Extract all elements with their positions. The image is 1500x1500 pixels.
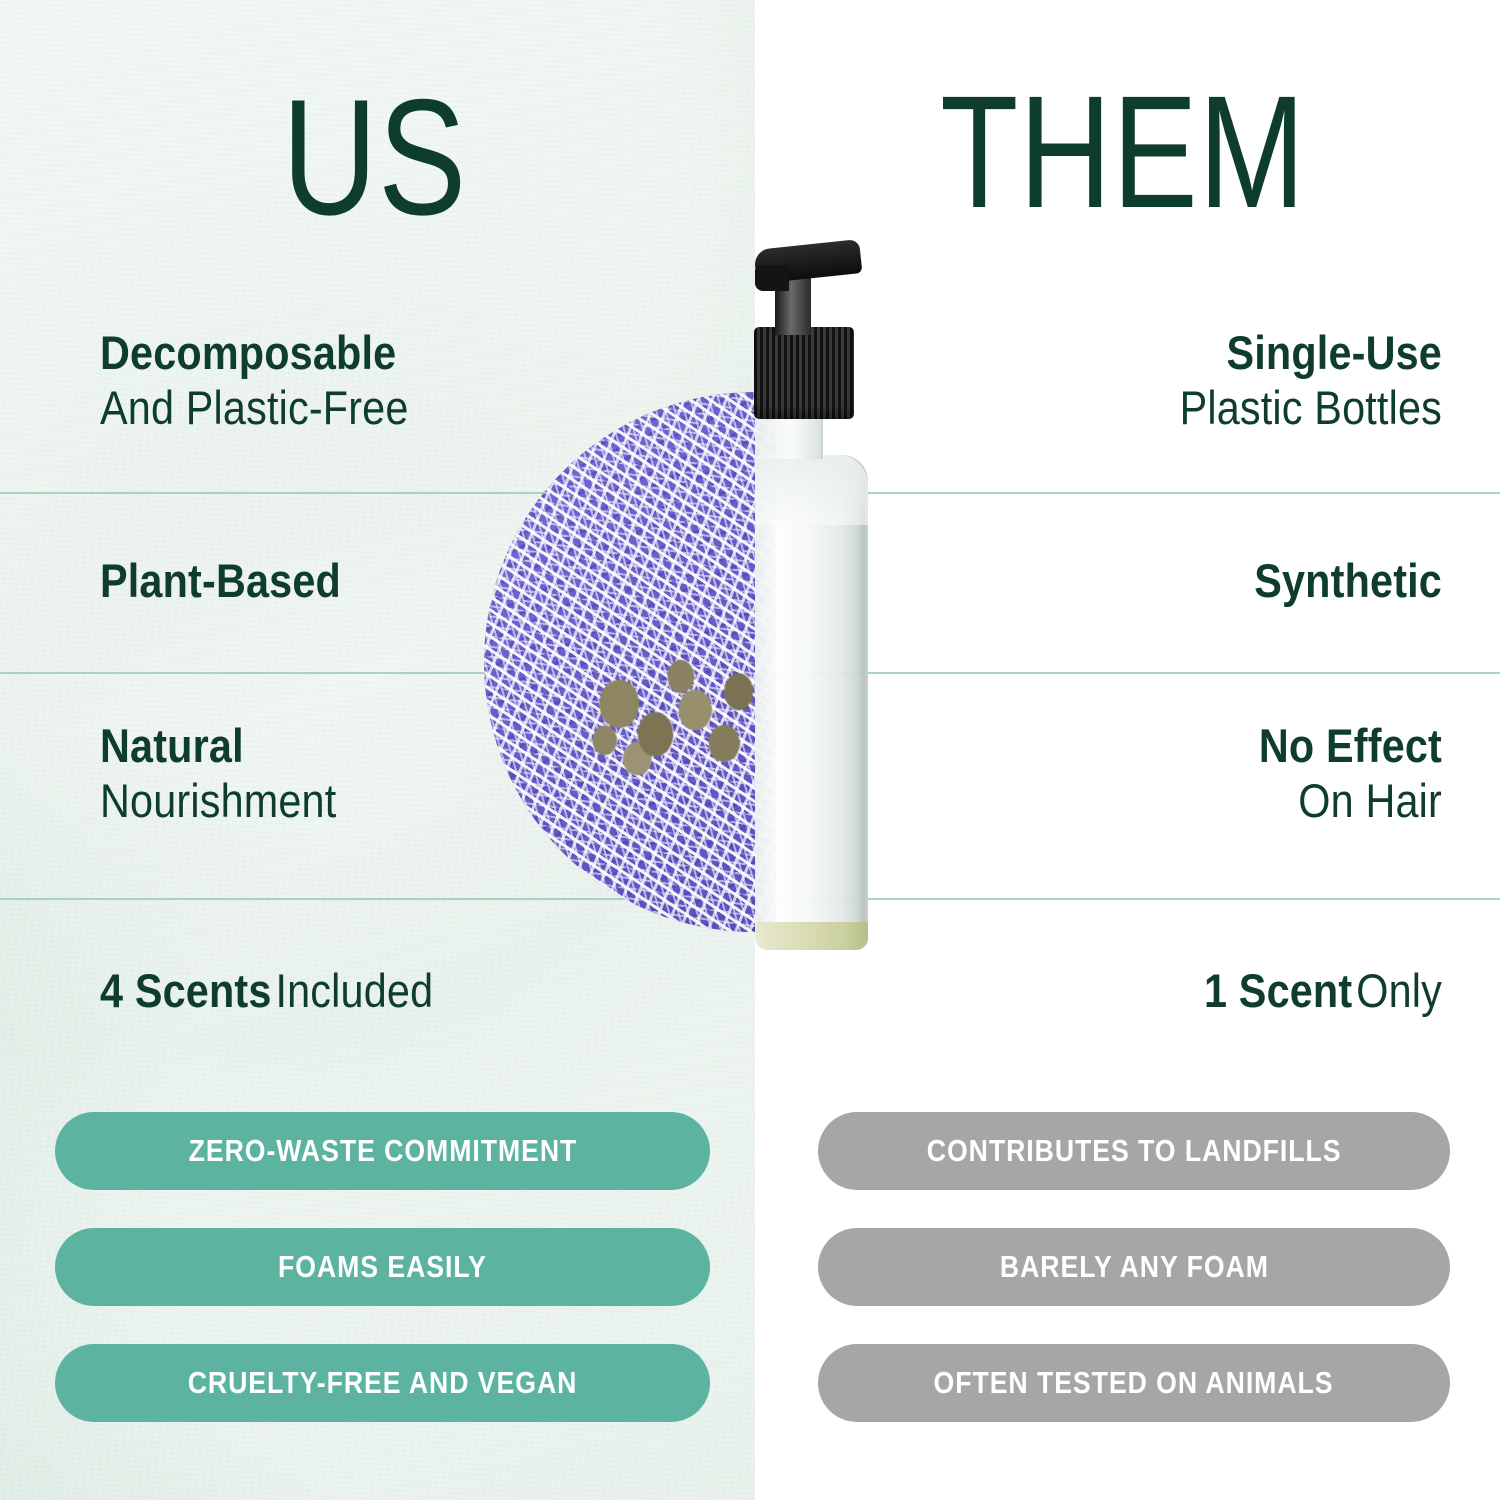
- divider-left-3: [0, 898, 755, 900]
- feature-right-1: Single-Use Plastic Bottles: [868, 325, 1442, 436]
- feature-left-1: Decomposable And Plastic-Free: [100, 325, 646, 436]
- feature-left-4-title: 4 Scents: [100, 964, 272, 1017]
- pill-good-3[interactable]: Cruelty-Free And Vegan: [55, 1344, 710, 1422]
- feature-right-3-title: No Effect: [868, 718, 1442, 773]
- feature-left-4: 4 Scents Included: [100, 963, 646, 1018]
- feature-right-1-subtitle: Plastic Bottles: [868, 380, 1442, 435]
- divider-left-1: [0, 492, 755, 494]
- feature-right-1-title: Single-Use: [868, 325, 1442, 380]
- pill-bad-3[interactable]: Often Tested On Animals: [818, 1344, 1450, 1422]
- feature-left-3: Natural Nourishment: [100, 718, 646, 829]
- pill-bad-3-label: Often Tested On Animals: [934, 1365, 1334, 1401]
- feature-left-1-title: Decomposable: [100, 325, 646, 380]
- feature-right-4: 1 Scent Only: [868, 963, 1442, 1018]
- feature-left-2-title: Plant-Based: [100, 553, 646, 608]
- heading-them: THEM: [825, 72, 1421, 232]
- divider-right-1: [755, 492, 1500, 494]
- pill-good-1-label: Zero-Waste Commitment: [188, 1133, 577, 1169]
- divider-left-2: [0, 672, 755, 674]
- feature-left-3-title: Natural: [100, 718, 646, 773]
- pill-bad-1-label: Contributes To Landfills: [927, 1133, 1342, 1169]
- divider-right-2: [755, 672, 1500, 674]
- feature-right-2: Synthetic: [868, 553, 1442, 608]
- comparison-infographic: US THEM Decomposable And Plastic-Free Pl…: [0, 0, 1500, 1500]
- feature-right-4-title: 1 Scent: [1204, 964, 1352, 1017]
- pill-good-2[interactable]: Foams Easily: [55, 1228, 710, 1306]
- feature-right-4-subtitle: Only: [1356, 964, 1442, 1017]
- heading-us: US: [72, 75, 676, 240]
- pill-good-3-label: Cruelty-Free And Vegan: [188, 1365, 578, 1401]
- feature-left-4-subtitle: Included: [275, 964, 433, 1017]
- pill-good-1[interactable]: Zero-Waste Commitment: [55, 1112, 710, 1190]
- pill-good-2-label: Foams Easily: [278, 1249, 487, 1285]
- feature-left-1-subtitle: And Plastic-Free: [100, 380, 646, 435]
- feature-left-3-subtitle: Nourishment: [100, 773, 646, 828]
- feature-left-2: Plant-Based: [100, 553, 646, 608]
- divider-right-3: [755, 898, 1500, 900]
- feature-right-2-title: Synthetic: [868, 553, 1442, 608]
- pill-bad-2[interactable]: Barely Any Foam: [818, 1228, 1450, 1306]
- feature-right-3: No Effect On Hair: [868, 718, 1442, 829]
- feature-right-3-subtitle: On Hair: [868, 773, 1442, 828]
- pill-bad-1[interactable]: Contributes To Landfills: [818, 1112, 1450, 1190]
- pill-bad-2-label: Barely Any Foam: [1000, 1249, 1269, 1285]
